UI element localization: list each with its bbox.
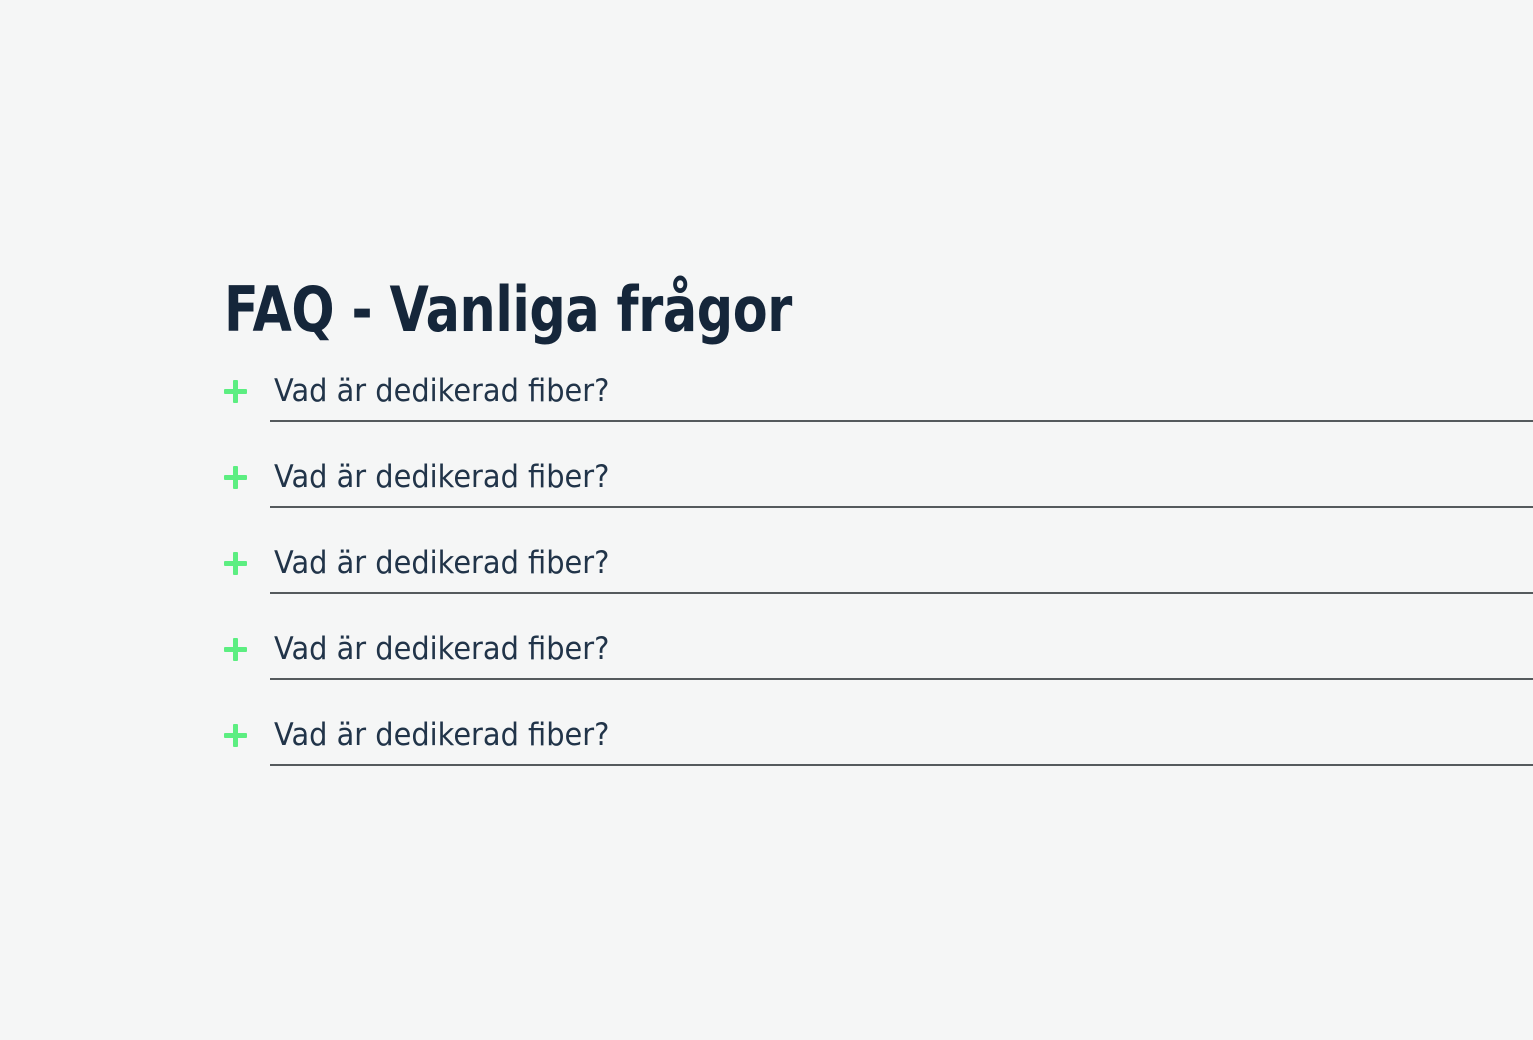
faq-item-divider: [270, 506, 1533, 508]
faq-item-divider: [270, 420, 1533, 422]
faq-question-label: Vad är dedikerad fiber?: [274, 372, 609, 410]
faq-accordion-list: Vad är dedikerad fiber? Vad är dedikerad…: [224, 368, 1533, 798]
faq-accordion-item[interactable]: Vad är dedikerad fiber?: [224, 368, 1533, 454]
plus-icon[interactable]: [224, 638, 247, 661]
faq-section: FAQ - Vanliga frågor Vad är dedikerad fi…: [224, 276, 1533, 798]
plus-icon[interactable]: [224, 380, 247, 403]
faq-accordion-header[interactable]: Vad är dedikerad fiber?: [224, 368, 1533, 414]
plus-icon[interactable]: [224, 724, 247, 747]
faq-item-divider: [270, 592, 1533, 594]
plus-icon[interactable]: [224, 466, 247, 489]
faq-page: FAQ - Vanliga frågor Vad är dedikerad fi…: [0, 0, 1533, 1040]
faq-question-label: Vad är dedikerad fiber?: [274, 630, 609, 668]
faq-accordion-item[interactable]: Vad är dedikerad fiber?: [224, 626, 1533, 712]
faq-question-label: Vad är dedikerad fiber?: [274, 716, 609, 754]
plus-icon[interactable]: [224, 552, 247, 575]
faq-accordion-item[interactable]: Vad är dedikerad fiber?: [224, 454, 1533, 540]
faq-question-label: Vad är dedikerad fiber?: [274, 458, 609, 496]
page-title: FAQ - Vanliga frågor: [224, 276, 1297, 344]
faq-question-label: Vad är dedikerad fiber?: [274, 544, 609, 582]
faq-accordion-header[interactable]: Vad är dedikerad fiber?: [224, 626, 1533, 672]
faq-accordion-item[interactable]: Vad är dedikerad fiber?: [224, 712, 1533, 798]
faq-accordion-header[interactable]: Vad är dedikerad fiber?: [224, 712, 1533, 758]
faq-item-divider: [270, 764, 1533, 766]
faq-accordion-header[interactable]: Vad är dedikerad fiber?: [224, 540, 1533, 586]
faq-accordion-item[interactable]: Vad är dedikerad fiber?: [224, 540, 1533, 626]
faq-item-divider: [270, 678, 1533, 680]
faq-accordion-header[interactable]: Vad är dedikerad fiber?: [224, 454, 1533, 500]
